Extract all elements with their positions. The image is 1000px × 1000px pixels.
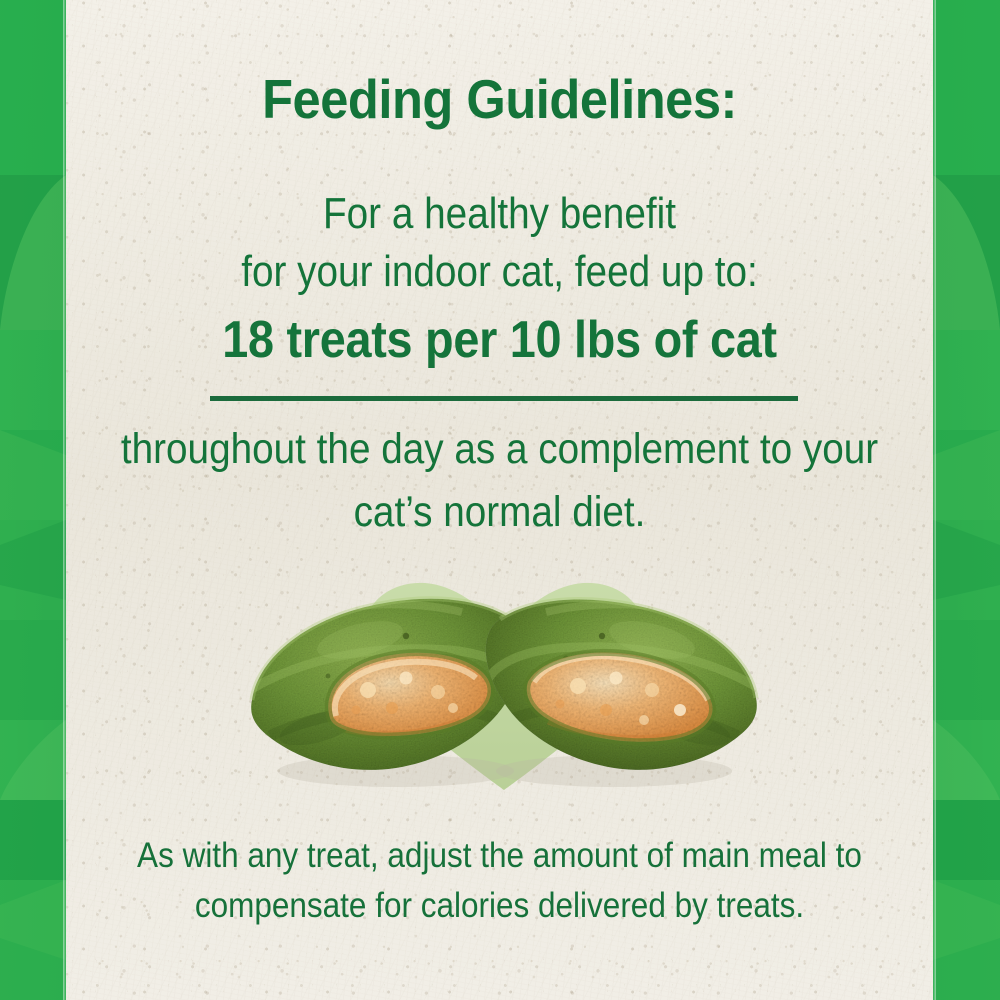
footnote-line-1: As with any treat, adjust the amount of … [109, 831, 889, 881]
footnote-line-2: compensate for calories delivered by tre… [109, 881, 889, 931]
treat-halves-illustration-icon [210, 540, 798, 830]
lede-text: For a healthy benefit for your indoor ca… [118, 185, 881, 301]
dosage-continuation-text: throughout the day as a complement to yo… [109, 418, 889, 544]
right-border-pattern-icon [933, 0, 1000, 1000]
right-border-highlight [933, 0, 936, 1000]
product-photo [210, 540, 798, 830]
panel-content: Feeding Guidelines: For a healthy benefi… [66, 0, 933, 1000]
left-border-pattern-icon [0, 0, 66, 1000]
tail-line-1: throughout the day as a complement to yo… [109, 418, 889, 481]
tail-line-2: cat’s normal diet. [109, 481, 889, 544]
lede-line-1: For a healthy benefit [118, 185, 881, 243]
feeding-guidelines-panel: Feeding Guidelines: For a healthy benefi… [0, 0, 1000, 1000]
divider [210, 396, 798, 401]
footnote-text: As with any treat, adjust the amount of … [109, 831, 889, 931]
page-title: Feeding Guidelines: [101, 68, 899, 130]
lede-line-2: for your indoor cat, feed up to: [118, 243, 881, 301]
left-green-border [0, 0, 66, 1000]
right-green-border [933, 0, 1000, 1000]
dosage-statement: 18 treats per 10 lbs of cat [109, 309, 889, 371]
